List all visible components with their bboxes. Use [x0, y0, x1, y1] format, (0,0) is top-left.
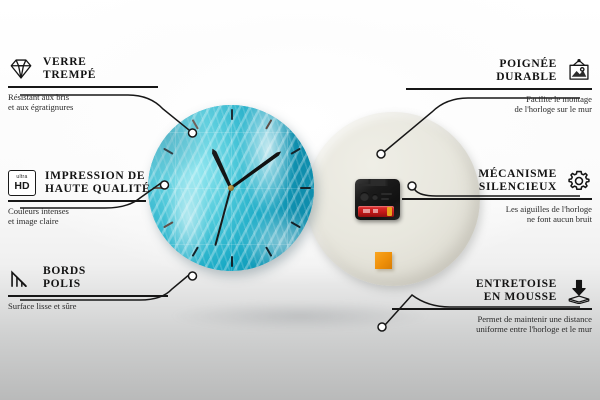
- infographic-canvas: VERRE TREMPÉ Résistant aux bris et aux é…: [0, 0, 600, 400]
- foam-spacer-square: [375, 252, 392, 269]
- diagonal-lines-icon: [8, 265, 34, 291]
- callout-title: POIGNÉE DURABLE: [496, 58, 557, 83]
- callout-verre-trempe: VERRE TREMPÉ Résistant aux bris et aux é…: [8, 56, 218, 112]
- callout-title: VERRE TREMPÉ: [43, 56, 96, 81]
- callout-divider: [8, 295, 168, 297]
- gear-icon: [566, 168, 592, 194]
- mechanism-dial-hole: [360, 192, 369, 201]
- callout-title: ENTRETOISE EN MOUSSE: [476, 278, 557, 303]
- down-arrow-onto-pad-icon: [566, 278, 592, 304]
- callout-divider: [406, 88, 592, 90]
- callout-entretoise-en-mousse: ENTRETOISE EN MOUSSE Permet de maintenir…: [382, 278, 592, 334]
- diamond-icon: [8, 56, 34, 82]
- callout-subtitle: Permet de maintenir une distance uniform…: [382, 314, 592, 335]
- callout-title: MÉCANISME SILENCIEUX: [478, 168, 557, 193]
- callout-title: IMPRESSION DE HAUTE QUALITÉ: [45, 170, 150, 195]
- mechanism-screw-hole: [372, 194, 378, 200]
- callout-subtitle: Couleurs intenses et image claire: [8, 206, 218, 227]
- callout-subtitle: Facilite le montage de l'horloge sur le …: [382, 94, 592, 115]
- hanging-picture-frame-icon: [566, 58, 592, 84]
- callout-divider: [8, 86, 158, 88]
- callout-impression-haute-qualite: ultra HD IMPRESSION DE HAUTE QUALITÉ Cou…: [8, 170, 218, 226]
- callout-divider: [8, 200, 146, 202]
- callout-mecanisme-silencieux: MÉCANISME SILENCIEUX Les aiguilles de l'…: [382, 168, 592, 224]
- callout-poignee-durable: POIGNÉE DURABLE Facilite le montage de l…: [382, 58, 592, 114]
- callout-subtitle: Surface lisse et sûre: [8, 301, 218, 311]
- callout-subtitle: Les aiguilles de l'horloge ne font aucun…: [382, 204, 592, 225]
- callout-divider: [392, 308, 592, 310]
- callout-bords-polis: BORDS POLIS Surface lisse et sûre: [8, 265, 218, 311]
- callout-title: BORDS POLIS: [43, 265, 86, 290]
- callout-divider: [402, 198, 592, 200]
- callout-subtitle: Résistant aux bris et aux égratignures: [8, 92, 218, 113]
- hd-badge-main-text: HD: [14, 181, 29, 192]
- mechanism-marking: [359, 184, 371, 186]
- ultra-hd-badge-icon: ultra HD: [8, 170, 36, 196]
